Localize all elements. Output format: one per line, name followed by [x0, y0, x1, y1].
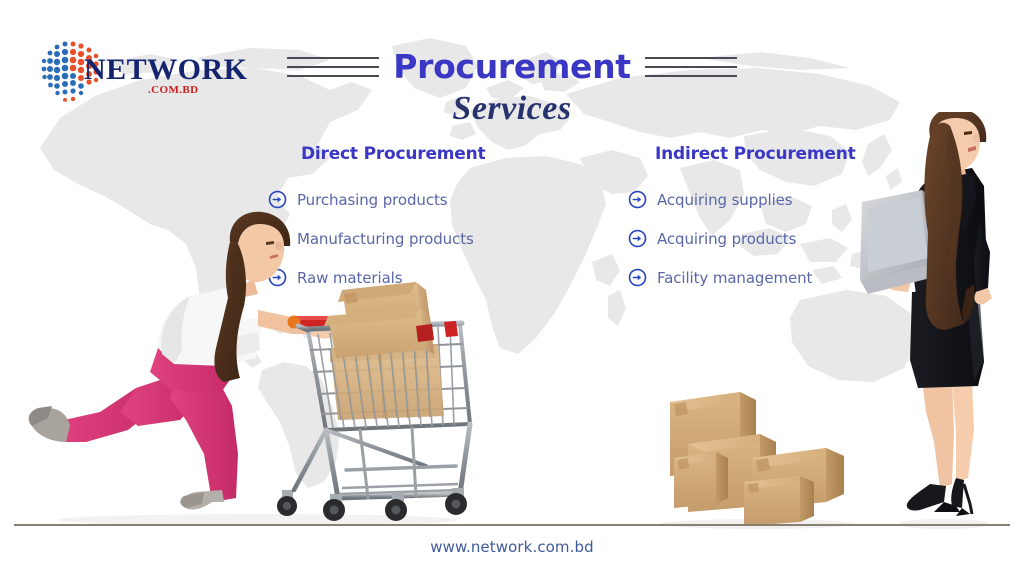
ground-divider-line: [14, 524, 1010, 526]
title-decoration-right: [645, 57, 737, 77]
infographic-canvas: NETWORK .COM.BD Procurement Services Dir…: [0, 0, 1024, 572]
arrow-circle-right-icon: [628, 268, 647, 287]
title-decoration-left: [287, 57, 379, 77]
arrow-circle-right-icon: [628, 229, 647, 248]
arrow-circle-right-icon: [628, 190, 647, 209]
list-item-label: Facility management: [657, 269, 812, 287]
list-item-label: Acquiring supplies: [657, 191, 793, 209]
list-item-label: Acquiring products: [657, 230, 796, 248]
illustration-stacked-cardboard-boxes: [648, 340, 868, 530]
page-title: Procurement: [393, 50, 631, 83]
illustration-businesswoman-with-laptop: [860, 112, 1020, 530]
footer-website-url[interactable]: www.network.com.bd: [0, 538, 1024, 556]
illustration-woman-pushing-shopping-cart: [8, 198, 478, 528]
column-heading-direct: Direct Procurement: [301, 144, 598, 164]
